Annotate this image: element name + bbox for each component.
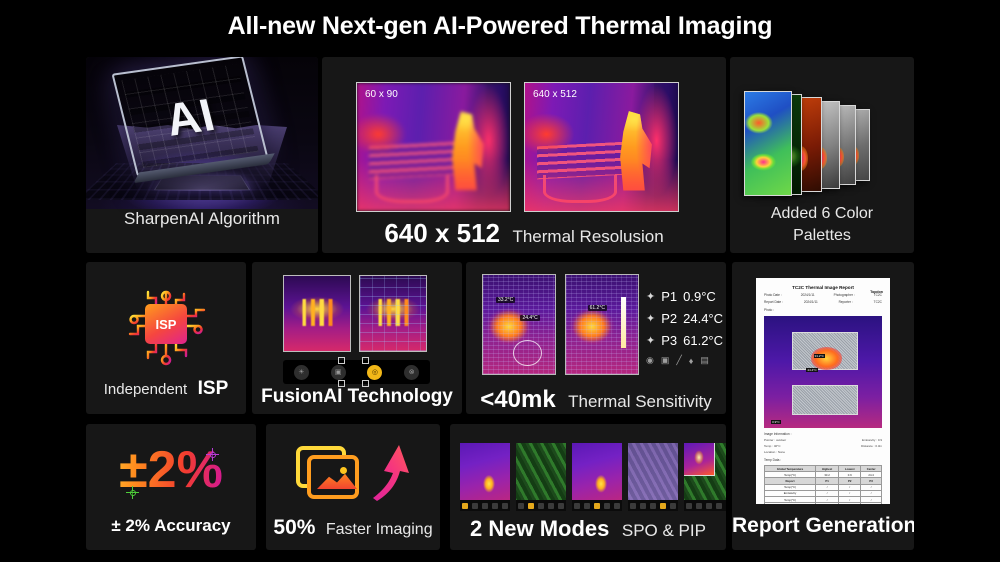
line-tool-icon[interactable]: ╱ [676, 355, 681, 366]
toolbar-dot [614, 503, 620, 509]
temp-point-label: P2 [661, 311, 677, 326]
thumb-toolbar [460, 500, 510, 511]
palettes-caption-line2: Palettes [730, 227, 914, 245]
pip-inset [684, 443, 715, 476]
mode-thumbnail-row [460, 443, 726, 511]
report-temp-data-label: Temp Data : [764, 458, 882, 462]
report-photo-label: Photo : [764, 308, 882, 312]
table-cell: / [839, 503, 861, 504]
thumb-toolbar [572, 500, 622, 511]
report-meta-key: Photographer : [834, 293, 855, 297]
sharpen-caption: SharpenAI Algorithm [86, 209, 318, 229]
toolbar-dot [640, 503, 646, 509]
brightness-icon[interactable]: ☀ [294, 365, 309, 380]
report-brand: Topdon [870, 290, 883, 294]
thumb-toolbar [684, 500, 726, 511]
temp-tag: 24.4°C [520, 315, 539, 321]
ai-chip: AI [111, 57, 268, 177]
bench-leg-shape [543, 175, 616, 203]
fusion-caption: FusionAI Technology [252, 386, 462, 408]
report-info-key: Temp : 40°C [764, 444, 781, 448]
dark-column [654, 83, 678, 211]
dark-column [486, 83, 510, 211]
toolbar-dot [594, 503, 600, 509]
toolbar-dot [462, 503, 468, 509]
toolbar-dot [716, 503, 722, 509]
temp-point-label: P3 [661, 333, 677, 348]
resolution-comparison: 60 x 90 640 x 512 [356, 82, 679, 212]
thermal-image-low-res: 60 x 90 [356, 82, 511, 212]
temperature-scale-bar [621, 297, 626, 348]
card-report-generation: TC2C Thermal Image Report Topdon Photo D… [732, 262, 914, 550]
person-shape [446, 111, 486, 190]
temp-point-value: 24.4°C [683, 311, 723, 326]
thermal-scene-high [525, 83, 678, 211]
point-marker-icon: ✦ [646, 290, 655, 303]
table-row: Environment / / / [765, 503, 882, 504]
area-tool-icon[interactable]: ▣ [661, 355, 670, 366]
mode-thumb-thermal-2 [572, 443, 622, 511]
accuracy-caption: ± 2% Accuracy [86, 516, 256, 536]
report-info-value: Distance : 0.3m [861, 444, 882, 448]
fusion-image-pair [283, 275, 427, 352]
temp-point-value: 61.2°C [683, 333, 723, 348]
thermal-scene-low [357, 83, 510, 211]
bench-shape [369, 142, 458, 180]
temp-point-label: P1 [661, 289, 677, 304]
report-meta-key: Report Date : [764, 300, 783, 304]
temp-point-value: 0.9°C [683, 289, 716, 304]
ai-chip-label: AI [120, 82, 261, 152]
palette-stack [744, 91, 900, 196]
report-meta-row: Photo Date : 2024/1/11 Photographer : TC… [764, 293, 882, 297]
sensitivity-caption: <40mk Thermal Sensitivity [466, 386, 726, 414]
toolbar-dot [650, 503, 656, 509]
accuracy-value: ±2% [86, 444, 256, 496]
focus-bracket [338, 357, 369, 387]
palette-swatch-1 [744, 91, 792, 196]
faster-caption: 50% Faster Imaging [266, 516, 440, 540]
report-meta-value: 2024/1/11 [804, 300, 818, 304]
high-res-badge: 640 x 512 [533, 89, 577, 100]
settings-icon[interactable]: ⊗ [404, 365, 419, 380]
toolbar-dot [558, 503, 564, 509]
report-tool-icon[interactable]: ▤ [700, 355, 709, 366]
toolbar-dot [574, 503, 580, 509]
temperature-readings: ✦ P1 0.9°C ✦ P2 24.4°C ✦ P3 61.2°C ◉ ▣ ╱… [646, 289, 723, 366]
resolution-label: Thermal Resolusion [512, 227, 663, 246]
sensitivity-label: Thermal Sensitivity [568, 392, 712, 411]
low-res-badge: 60 x 90 [365, 89, 398, 100]
report-info-value: Emissivity : 0.9 [862, 438, 882, 442]
fusion-icon[interactable]: ◎ [367, 365, 382, 380]
toolbar-dot [518, 503, 524, 509]
toolbar-dot [630, 503, 636, 509]
person-shape [614, 111, 654, 190]
card-sharpen-ai: AI SharpenAI Algorithm [86, 57, 318, 253]
palettes-caption-line1: Added 6 Color [730, 205, 914, 223]
toolbar-dot [502, 503, 508, 509]
report-caption: Report Generation [732, 514, 914, 538]
page-title: All-new Next-gen AI-Powered Thermal Imag… [0, 12, 1000, 41]
table-cell: / [816, 503, 839, 504]
report-photo-tag: 0.9°C [771, 420, 781, 424]
report-meta-row: Report Date : 2024/1/11 Reporter : TC2C [764, 300, 882, 304]
arrow-shape [373, 445, 409, 501]
toolbar-dot [538, 503, 544, 509]
faster-value: 50% [273, 516, 315, 539]
report-data-table: Global Temperature Highest Lowest Center… [764, 465, 882, 504]
crosshair-icon [126, 486, 139, 499]
fusion-image-thermal [283, 275, 351, 352]
report-meta-key: Reporter : [839, 300, 853, 304]
temp-tag: 33.2°C [496, 297, 515, 303]
modes-label: SPO & PIP [622, 521, 706, 540]
report-doc-title: TC2C Thermal Image Report [764, 285, 882, 290]
toolbar-dot [660, 503, 666, 509]
report-meta-key: Photo Date : [764, 293, 782, 297]
mode-thumb-visible [516, 443, 566, 511]
toolbar-dot [482, 503, 488, 509]
report-info-row: Location : None [764, 450, 882, 454]
report-info-row: Temp : 40°C Distance : 0.3m [764, 444, 882, 448]
sensitivity-image-pair: 33.2°C 24.4°C 61.2°C [482, 274, 639, 375]
point-tool-icon[interactable]: ♦ [689, 356, 694, 366]
bench-leg-shape [375, 175, 448, 203]
bracket-top-left [338, 357, 345, 364]
card-thermal-sensitivity: 33.2°C 24.4°C 61.2°C ✦ P1 0.9°C ✦ P2 24.… [466, 262, 726, 414]
report-info-key: Pointer : outdoor [764, 438, 786, 442]
mode-thumb-blend [628, 443, 678, 511]
card-fusion-ai: ☀ ▣ ◎ ⊗ FusionAI Technology [252, 262, 462, 414]
edge-detail-layer [360, 276, 426, 351]
isp-chip-icon: ISP [120, 280, 212, 368]
temp-point-row: ✦ P3 61.2°C [646, 333, 723, 348]
point-marker-icon: ✦ [646, 312, 655, 325]
card-accuracy: ±2% ± 2% Accuracy [86, 424, 256, 550]
report-thermal-photo: 33.2°C 24.4°C 0.9°C [764, 316, 882, 428]
ai-chip-illustration: AI [86, 57, 318, 209]
toolbar-dot [548, 503, 554, 509]
report-meta-value: 2024/1/11 [801, 293, 815, 297]
faster-label: Faster Imaging [326, 521, 433, 538]
feature-overview-page: All-new Next-gen AI-Powered Thermal Imag… [0, 0, 1000, 562]
measurement-circle [513, 340, 542, 366]
isp-core-label: ISP [145, 304, 187, 344]
mode-thumb-pip [684, 443, 726, 511]
toolbar-dot [584, 503, 590, 509]
table-cell: / [861, 503, 882, 504]
toolbar-dot [686, 503, 692, 509]
temp-tag: 61.2°C [588, 305, 607, 311]
table-cell: Environment [765, 503, 816, 504]
report-info-label: Image Information : [764, 432, 882, 436]
thumb-toolbar [516, 500, 566, 511]
up-arrow-icon [371, 440, 411, 502]
photo-stack-icon [296, 446, 370, 504]
thumb-toolbar [628, 500, 678, 511]
bracket-top-right [362, 357, 369, 364]
modes-caption: 2 New Modes SPO & PIP [450, 516, 726, 542]
point-marker-icon: ✦ [646, 334, 655, 347]
bench-shape [537, 142, 626, 180]
spot-tool-icon[interactable]: ◉ [646, 355, 654, 366]
card-color-palettes: Added 6 Color Palettes [730, 57, 914, 253]
photo-frame-front [307, 455, 359, 499]
card-thermal-resolution: 60 x 90 640 x 512 640 x 512 Thermal Reso… [322, 57, 726, 253]
temp-point-row: ✦ P2 24.4°C [646, 311, 723, 326]
card-new-modes: 2 New Modes SPO & PIP [450, 424, 726, 550]
mode-thumb-thermal-1 [460, 443, 510, 511]
report-meta-value: TC2C [874, 300, 882, 304]
resolution-caption: 640 x 512 Thermal Resolusion [322, 218, 726, 249]
toolbar-dot [528, 503, 534, 509]
toolbar-dot [492, 503, 498, 509]
report-photo-tag: 33.2°C [814, 354, 825, 358]
sun-glyph [340, 467, 347, 474]
toolbar-dot [472, 503, 478, 509]
modes-value: 2 New Modes [470, 516, 609, 541]
card-independent-isp: ISP Independent ISP [86, 262, 246, 414]
hotspot-region [811, 347, 842, 369]
report-document: TC2C Thermal Image Report Topdon Photo D… [756, 278, 890, 504]
measurement-tool-row[interactable]: ◉ ▣ ╱ ♦ ▤ [646, 355, 723, 366]
sensitivity-image-right: 61.2°C [565, 274, 639, 375]
detail-noise [566, 275, 638, 374]
panel-lower [792, 385, 858, 414]
crosshair-icon [206, 448, 219, 461]
resolution-value: 640 x 512 [384, 218, 500, 248]
thermal-image-high-res: 640 x 512 [524, 82, 679, 212]
toolbar-dot [696, 503, 702, 509]
sensitivity-value: <40mk [480, 386, 555, 413]
mountain-glyph [317, 472, 357, 489]
sensitivity-image-left: 33.2°C 24.4°C [482, 274, 556, 375]
temp-point-row: ✦ P1 0.9°C [646, 289, 723, 304]
card-faster-imaging: 50% Faster Imaging [266, 424, 440, 550]
isp-caption-prefix: Independent [104, 381, 187, 398]
hot-spots [300, 299, 334, 326]
up-arrow-svg [371, 440, 411, 502]
toolbar-dot [670, 503, 676, 509]
report-info-key: Location : None [764, 450, 785, 454]
toolbar-dot [604, 503, 610, 509]
toolbar-dot [706, 503, 712, 509]
report-info-row: Pointer : outdoor Emissivity : 0.9 [764, 438, 882, 442]
isp-caption-value: ISP [198, 378, 229, 399]
fusion-image-blended [359, 275, 427, 352]
report-photo-tag: 24.4°C [806, 368, 817, 372]
isp-caption: Independent ISP [86, 378, 246, 400]
